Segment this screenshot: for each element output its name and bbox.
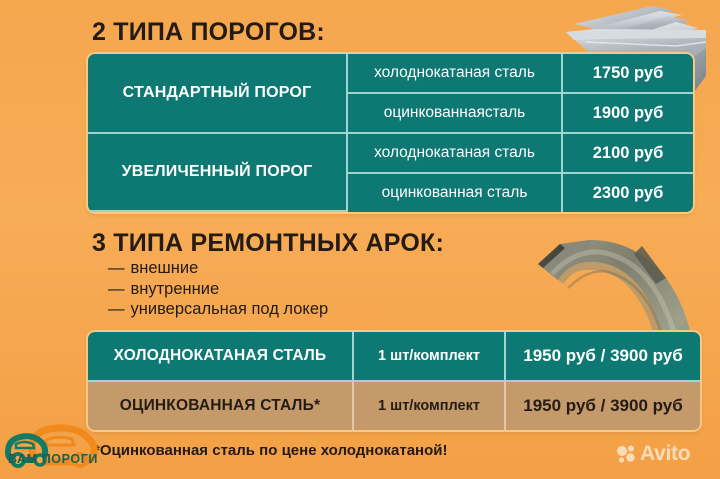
arch-steel-type: ХОЛОДНОКАТАНАЯ СТАЛЬ — [88, 332, 354, 382]
table-row: УВЕЛИЧЕННЫЙ ПОРОГ холоднокатаная сталь 2… — [88, 134, 693, 174]
list-item: —внутренние — [108, 280, 328, 301]
footnote: *Оцинкованная сталь по цене холоднокатан… — [94, 442, 447, 459]
sills-heading: 2 ТИПА ПОРОГОВ: — [92, 18, 325, 47]
sill-price: 2100 руб — [563, 134, 693, 174]
list-item: —внешние — [108, 259, 328, 280]
arch-steel-type: ОЦИНКОВАННАЯ СТАЛЬ* — [88, 382, 354, 430]
table-row: ОЦИНКОВАННАЯ СТАЛЬ* 1 шт/комплект 1950 р… — [88, 382, 700, 430]
list-item: —универсальная под локер — [108, 300, 328, 321]
sill-price: 1750 руб — [563, 54, 693, 94]
sill-steel-type: холоднокатаная сталь — [348, 54, 563, 94]
sill-steel-type: оцинкованнаясталь — [348, 94, 563, 134]
arch-quantity: 1 шт/комплект — [354, 332, 506, 382]
sill-steel-type: холоднокатаная сталь — [348, 134, 563, 174]
arch-quantity: 1 шт/комплект — [354, 382, 506, 430]
dash-icon: — — [108, 300, 125, 318]
list-item-label: внешние — [131, 259, 199, 277]
promo-image: 2 ТИПА ПОРОГОВ: СТАНДАРТНЫЙ ПОРОГ холодн… — [0, 0, 720, 479]
arch-price: 1950 руб / 3900 руб — [506, 382, 700, 430]
list-item-label: универсальная под локер — [131, 300, 329, 318]
table-row: СТАНДАРТНЫЙ ПОРОГ холоднокатаная сталь 1… — [88, 54, 693, 94]
dash-icon: — — [108, 259, 125, 277]
avito-label: Avito — [640, 442, 690, 466]
sill-type-name: УВЕЛИЧЕННЫЙ ПОРОГ — [88, 134, 348, 212]
table-row: ХОЛОДНОКАТАНАЯ СТАЛЬ 1 шт/комплект 1950 … — [88, 332, 700, 382]
sill-type-name: СТАНДАРТНЫЙ ПОРОГ — [88, 54, 348, 134]
sill-price: 1900 руб — [563, 94, 693, 134]
logo-text: ВАМ ПОРОГИ — [6, 452, 100, 466]
arches-heading: 3 ТИПА РЕМОНТНЫХ АРОК: — [92, 229, 444, 258]
avito-dots-icon — [616, 444, 636, 464]
sills-price-table: СТАНДАРТНЫЙ ПОРОГ холоднокатаная сталь 1… — [88, 54, 693, 212]
dash-icon: — — [108, 280, 125, 298]
list-item-label: внутренние — [131, 280, 220, 298]
arch-types-list: —внешние —внутренние —универсальная под … — [108, 259, 328, 321]
sill-price: 2300 руб — [563, 174, 693, 212]
avito-watermark: Avito — [616, 442, 690, 466]
arches-price-table: ХОЛОДНОКАТАНАЯ СТАЛЬ 1 шт/комплект 1950 … — [88, 332, 700, 430]
sill-steel-type: оцинкованная сталь — [348, 174, 563, 212]
arch-price: 1950 руб / 3900 руб — [506, 332, 700, 382]
